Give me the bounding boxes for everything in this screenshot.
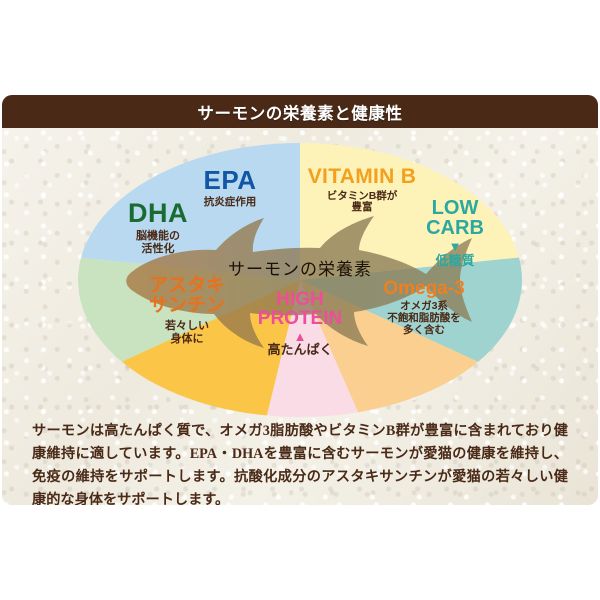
info-card: サーモンの栄養素と健康性 — [2, 95, 598, 505]
description-paragraph: サーモンは高たんぱく質で、オメガ3脂肪酸やビタミンB群が豊富に含まれており健康維… — [32, 420, 568, 505]
infographic-root: サーモンの栄養素と健康性 — [0, 0, 600, 600]
description-text: サーモンは高たんぱく質で、オメガ3脂肪酸やビタミンB群が豊富に含まれており健康維… — [32, 420, 568, 505]
pie-chart-svg — [2, 128, 598, 418]
header-bar: サーモンの栄養素と健康性 — [2, 95, 598, 128]
page-title: サーモンの栄養素と健康性 — [197, 100, 402, 124]
pie-chart — [2, 128, 598, 418]
